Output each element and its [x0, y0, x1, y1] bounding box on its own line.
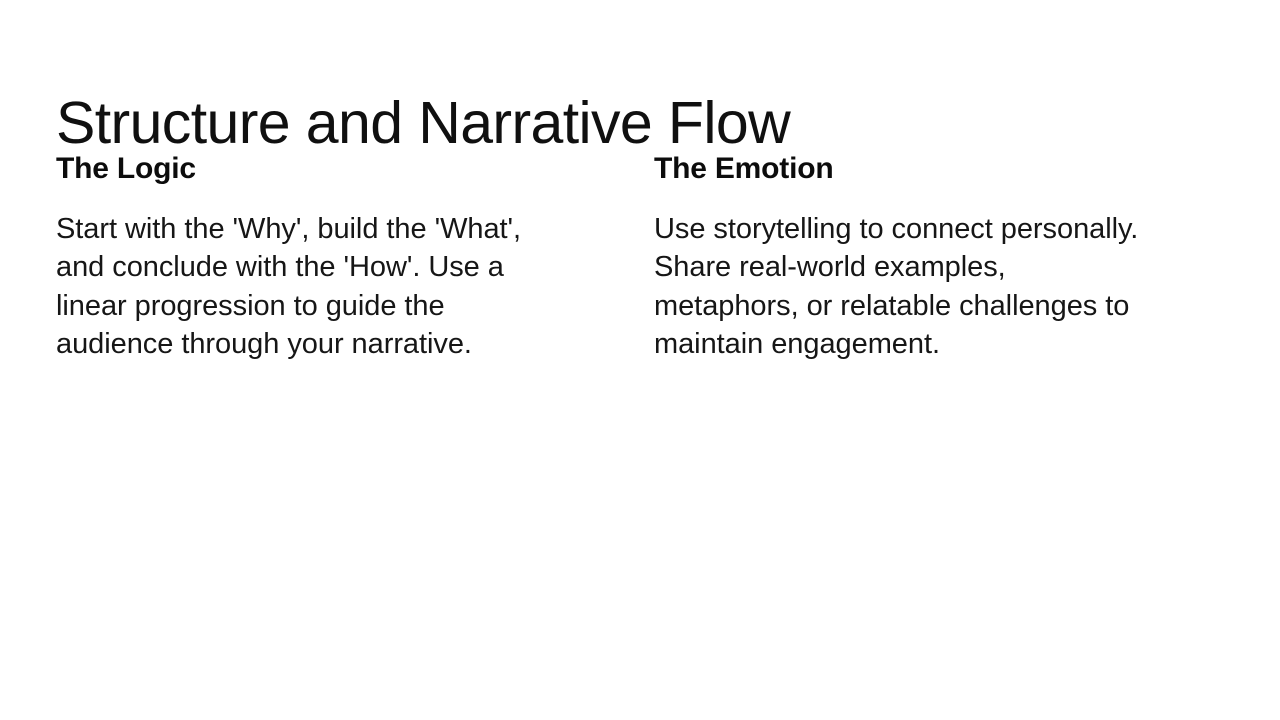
column-heading-logic: The Logic: [56, 152, 556, 186]
presentation-slide: Structure and Narrative Flow The Logic S…: [0, 0, 1280, 720]
column-emotion: The Emotion Use storytelling to connect …: [654, 152, 1154, 364]
column-body-emotion: Use storytelling to connect personally. …: [654, 210, 1154, 364]
column-logic: The Logic Start with the 'Why', build th…: [56, 152, 556, 364]
two-column-content: The Logic Start with the 'Why', build th…: [56, 152, 1224, 364]
column-body-logic: Start with the 'Why', build the 'What', …: [56, 210, 556, 364]
column-heading-emotion: The Emotion: [654, 152, 1154, 186]
page-title: Structure and Narrative Flow: [56, 92, 790, 156]
